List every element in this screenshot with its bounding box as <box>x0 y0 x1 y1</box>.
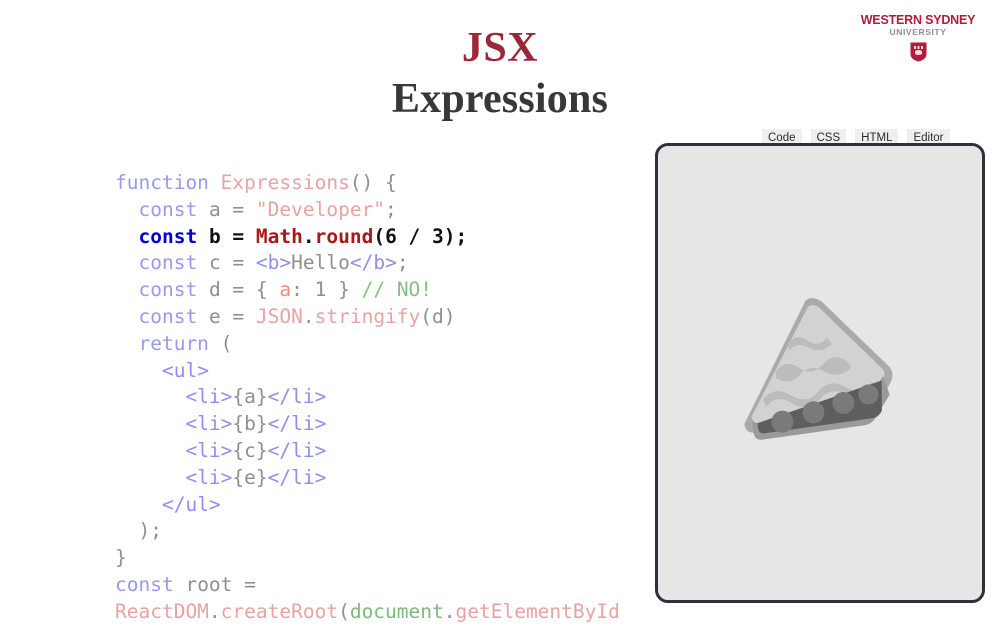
code-indent <box>115 278 138 301</box>
code-token: createRoot <box>221 600 338 623</box>
code-indent <box>115 251 138 274</box>
code-token: document <box>350 600 444 623</box>
code-line: <li>{c}</li> <box>115 438 675 465</box>
code-token: </li> <box>268 412 327 435</box>
code-token: ; <box>385 198 397 221</box>
code-token: return <box>138 332 220 355</box>
code-token: </li> <box>268 439 327 462</box>
code-line: return ( <box>115 331 675 358</box>
code-line: function Expressions() { <box>115 170 675 197</box>
code-token: ( <box>221 332 233 355</box>
code-token: const <box>138 305 208 328</box>
code-indent <box>115 439 185 462</box>
code-token: : 1 } <box>291 278 361 301</box>
logo-wordmark: WESTERN SYDNEY <box>852 14 984 27</box>
code-indent <box>115 332 138 355</box>
code-token: c = <box>209 251 256 274</box>
code-token: root = <box>185 573 255 596</box>
code-line: <ul> <box>115 358 675 385</box>
code-token: <ul> <box>162 359 209 382</box>
code-token: <li> <box>185 439 232 462</box>
code-token: b = <box>209 225 256 248</box>
code-token: const <box>138 278 208 301</box>
code-token: Hello <box>291 251 350 274</box>
code-token: (d) <box>420 305 455 328</box>
code-token: . <box>303 225 315 248</box>
university-logo: WESTERN SYDNEY UNIVERSITY <box>852 14 984 62</box>
code-token: ( <box>338 600 350 623</box>
code-token: JSON <box>256 305 303 328</box>
code-token: Expressions <box>221 171 350 194</box>
title-main: JSX <box>0 24 1000 72</box>
pie-slice-icon <box>720 273 920 473</box>
code-indent <box>115 385 185 408</box>
code-token: <li> <box>185 412 232 435</box>
code-token: {a} <box>232 385 267 408</box>
code-token: <li> <box>185 466 232 489</box>
code-token: ); <box>138 519 161 542</box>
code-indent <box>115 493 162 516</box>
code-line: <li>{a}</li> <box>115 384 675 411</box>
code-token: a = <box>209 198 256 221</box>
code-token: stringify <box>315 305 421 328</box>
code-token: a <box>279 278 291 301</box>
code-line: </ul> <box>115 492 675 519</box>
code-token: const <box>138 225 208 248</box>
code-token: Math <box>256 225 303 248</box>
code-line: <li>{b}</li> <box>115 411 675 438</box>
code-token: const <box>115 573 185 596</box>
code-indent <box>115 359 162 382</box>
code-token: <b> <box>256 251 291 274</box>
code-indent <box>115 198 138 221</box>
code-line: ReactDOM.createRoot(document.getElementB… <box>115 599 675 624</box>
code-token: getElementById <box>456 600 620 623</box>
code-line: const d = { a: 1 } // NO! <box>115 277 675 304</box>
code-token: {b} <box>232 412 267 435</box>
code-token: </ul> <box>162 493 221 516</box>
code-line: const a = "Developer"; <box>115 197 675 224</box>
code-line: const b = Math.round(6 / 3); <box>115 224 675 251</box>
code-token: function <box>115 171 221 194</box>
code-indent <box>115 519 138 542</box>
code-token: () { <box>350 171 397 194</box>
title-subtitle: Expressions <box>0 74 1000 124</box>
code-line: const c = <b>Hello</b>; <box>115 250 675 277</box>
code-token: // NO! <box>362 278 432 301</box>
code-indent <box>115 466 185 489</box>
code-token: </li> <box>268 466 327 489</box>
code-token: . <box>444 600 456 623</box>
preview-panel[interactable] <box>655 143 985 603</box>
code-token: . <box>303 305 315 328</box>
code-line: const root = <box>115 572 675 599</box>
code-token: (6 / 3); <box>373 225 467 248</box>
code-token: {e} <box>232 466 267 489</box>
code-token: <li> <box>185 385 232 408</box>
code-token: } <box>115 546 127 569</box>
code-line: } <box>115 545 675 572</box>
logo-subword: UNIVERSITY <box>852 27 984 38</box>
code-token: ; <box>397 251 409 274</box>
code-token: </li> <box>268 385 327 408</box>
code-token: {c} <box>232 439 267 462</box>
code-indent <box>115 225 138 248</box>
page-title: JSX Expressions <box>0 24 1000 124</box>
code-token: round <box>315 225 374 248</box>
code-indent <box>115 305 138 328</box>
code-line: ); <box>115 518 675 545</box>
code-token: const <box>138 251 208 274</box>
code-token: ReactDOM <box>115 600 209 623</box>
code-block[interactable]: function Expressions() { const a = "Deve… <box>115 170 675 624</box>
code-token: </b> <box>350 251 397 274</box>
shield-crest-icon <box>910 42 927 62</box>
code-line: const e = JSON.stringify(d) <box>115 304 675 331</box>
code-token: e = <box>209 305 256 328</box>
code-token: const <box>138 198 208 221</box>
code-indent <box>115 412 185 435</box>
code-token: . <box>209 600 221 623</box>
code-line: <li>{e}</li> <box>115 465 675 492</box>
code-token: "Developer" <box>256 198 385 221</box>
code-token: d = { <box>209 278 279 301</box>
